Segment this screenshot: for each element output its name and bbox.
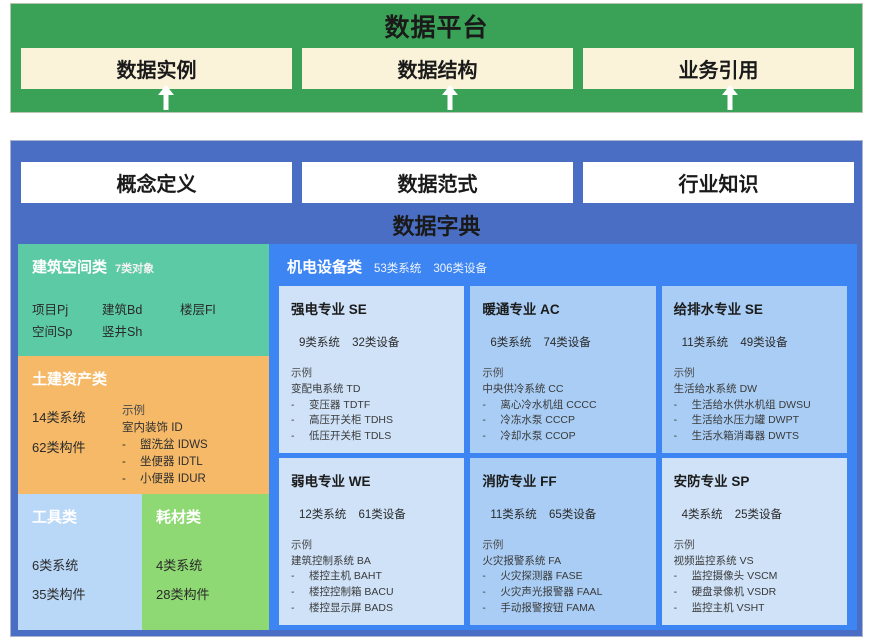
list-item: -楼控显示屏 BADS	[291, 601, 452, 617]
discipline-example: 示例 变配电系统 TD -变压器 TDTF -高压开关柜 TDHS -低压开关柜…	[291, 366, 452, 445]
civil-assets-body: 14类系统 62类构件 示例 室内装饰 ID -盥洗盆 IDWS -坐便器 ID…	[32, 403, 255, 487]
discipline-card-security[interactable]: 安防专业 SP 4类系统 25类设备 示例 视频监控系统 VS -监控摄像头 V…	[662, 458, 847, 625]
space-item-shaft: 竖井Sh	[102, 321, 180, 340]
platform-card-business-reference[interactable]: 业务引用	[583, 48, 854, 89]
category-consumables-title: 耗材类	[156, 506, 201, 527]
category-civil-assets[interactable]: 土建资产类 14类系统 62类构件 示例 室内装饰 ID -盥洗盆 IDWS	[18, 356, 269, 494]
list-item: -坐便器 IDTL	[122, 454, 208, 471]
list-item: -火灾探测器 FASE	[482, 569, 643, 585]
space-item-floor: 楼层Fl	[180, 299, 255, 318]
discipline-example-item-2: 冷却水泵 CCOP	[500, 429, 575, 445]
discipline-grid: 强电专业 SE 9类系统 32类设备 示例 变配电系统 TD -变压器 TDTF…	[279, 286, 847, 623]
bullet-dash-icon: -	[122, 454, 130, 471]
list-item: -冷却水泵 CCOP	[482, 429, 643, 445]
category-consumables[interactable]: 耗材类 4类系统 28类构件	[142, 494, 269, 630]
discipline-system-count: 11类系统	[682, 337, 728, 349]
arrow-up-icon-2	[440, 85, 460, 110]
civil-example-item-0: 盥洗盆 IDWS	[140, 437, 208, 454]
list-item: -监控主机 VSHT	[674, 601, 835, 617]
consumables-component-count: 28类构件	[156, 580, 255, 609]
discipline-card-strong-electric[interactable]: 强电专业 SE 9类系统 32类设备 示例 变配电系统 TD -变压器 TDTF…	[279, 286, 464, 453]
platform-card-row: 数据实例 数据结构 业务引用	[21, 48, 854, 89]
discipline-example-system: 视频监控系统 VS	[674, 554, 835, 570]
discipline-example-list: -生活给水供水机组 DWSU -生活给水压力罐 DWPT -生活水箱消毒器 DW…	[674, 398, 835, 445]
bullet-dash-icon: -	[482, 601, 489, 617]
discipline-example-item-2: 低压开关柜 TDLS	[309, 429, 391, 445]
discipline-counts: 12类系统 61类设备	[291, 506, 452, 522]
discipline-example-item-0: 离心冷水机组 CCCC	[500, 398, 596, 414]
discipline-title: 强电专业 SE	[291, 298, 452, 318]
discipline-example-system: 变配电系统 TD	[291, 382, 452, 398]
tools-counts: 6类系统 35类构件	[32, 551, 128, 609]
list-item: -生活给水压力罐 DWPT	[674, 413, 835, 429]
dictionary-card-industry-knowledge[interactable]: 行业知识	[583, 162, 854, 203]
list-item: -生活给水供水机组 DWSU	[674, 398, 835, 414]
category-civil-assets-title: 土建资产类	[32, 368, 107, 389]
category-tools-header: 工具类	[32, 506, 128, 527]
bullet-dash-icon: -	[674, 429, 681, 445]
left-category-column: 建筑空间类 7类对象 项目Pj 建筑Bd 楼层Fl 空间Sp 竖井Sh	[18, 244, 269, 630]
bullet-dash-icon: -	[674, 585, 681, 601]
discipline-example-list: -火灾探测器 FASE -火灾声光报警器 FAAL -手动报警按钮 FAMA	[482, 569, 643, 616]
discipline-title: 消防专业 FF	[482, 470, 643, 490]
civil-example-item-1: 坐便器 IDTL	[140, 454, 203, 471]
discipline-example: 示例 视频监控系统 VS -监控摄像头 VSCM -硬盘录像机 VSDR -监控…	[674, 538, 835, 617]
mep-system-count: 53类系统	[374, 260, 421, 276]
space-item-project: 项目Pj	[32, 299, 102, 318]
discipline-example-list: -楼控主机 BAHT -楼控控制箱 BACU -楼控显示屏 BADS	[291, 569, 452, 616]
list-item: -小便器 IDUR	[122, 471, 208, 488]
list-item: -监控摄像头 VSCM	[674, 569, 835, 585]
bullet-dash-icon: -	[291, 601, 298, 617]
discipline-example-item-2: 生活水箱消毒器 DWTS	[692, 429, 799, 445]
discipline-system-count: 4类系统	[682, 509, 723, 521]
discipline-card-weak-electric[interactable]: 弱电专业 WE 12类系统 61类设备 示例 建筑控制系统 BA -楼控主机 B…	[279, 458, 464, 625]
list-item: -生活水箱消毒器 DWTS	[674, 429, 835, 445]
tools-component-count: 35类构件	[32, 580, 128, 609]
discipline-title: 安防专业 SP	[674, 470, 835, 490]
discipline-example-item-1: 楼控控制箱 BACU	[309, 585, 394, 601]
discipline-example-item-2: 监控主机 VSHT	[692, 601, 765, 617]
discipline-example: 示例 生活给水系统 DW -生活给水供水机组 DWSU -生活给水压力罐 DWP…	[674, 366, 835, 445]
discipline-example-system: 生活给水系统 DW	[674, 382, 835, 398]
discipline-example-label: 示例	[482, 366, 643, 382]
mep-title: 机电设备类	[287, 256, 362, 277]
bullet-dash-icon: -	[482, 398, 489, 414]
discipline-example-item-0: 监控摄像头 VSCM	[692, 569, 778, 585]
discipline-example-label: 示例	[291, 538, 452, 554]
bullet-dash-icon: -	[674, 398, 681, 414]
civil-example-system: 室内装饰 ID	[122, 420, 208, 437]
dictionary-card-row: 概念定义 数据范式 行业知识	[21, 162, 854, 203]
dictionary-title: 数据字典	[11, 209, 862, 241]
list-item: -手动报警按钮 FAMA	[482, 601, 643, 617]
discipline-title: 暖通专业 AC	[482, 298, 643, 318]
discipline-example-list: -离心冷水机组 CCCC -冷冻水泵 CCCP -冷却水泵 CCOP	[482, 398, 643, 445]
mep-header: 机电设备类 53类系统 306类设备	[287, 256, 847, 277]
list-item: -楼控控制箱 BACU	[291, 585, 452, 601]
discipline-card-hvac[interactable]: 暖通专业 AC 6类系统 74类设备 示例 中央供冷系统 CC -离心冷水机组 …	[470, 286, 655, 453]
discipline-example-list: -变压器 TDTF -高压开关柜 TDHS -低压开关柜 TDLS	[291, 398, 452, 445]
list-item: -变压器 TDTF	[291, 398, 452, 414]
discipline-system-count: 9类系统	[299, 337, 340, 349]
civil-system-count: 14类系统	[32, 403, 122, 433]
discipline-example-item-1: 火灾声光报警器 FAAL	[500, 585, 602, 601]
discipline-example-list: -监控摄像头 VSCM -硬盘录像机 VSDR -监控主机 VSHT	[674, 569, 835, 616]
discipline-device-count: 74类设备	[543, 337, 590, 349]
discipline-example-label: 示例	[674, 538, 835, 554]
discipline-counts: 11类系统 49类设备	[674, 334, 835, 350]
discipline-example: 示例 中央供冷系统 CC -离心冷水机组 CCCC -冷冻水泵 CCCP -冷却…	[482, 366, 643, 445]
discipline-example-item-0: 变压器 TDTF	[309, 398, 370, 414]
lower-category-row: 工具类 6类系统 35类构件 耗材类 4类系统 28类构件	[18, 494, 269, 630]
category-tools[interactable]: 工具类 6类系统 35类构件	[18, 494, 142, 630]
discipline-device-count: 65类设备	[549, 509, 596, 521]
discipline-example-item-1: 高压开关柜 TDHS	[309, 413, 393, 429]
discipline-system-count: 6类系统	[490, 337, 531, 349]
discipline-title: 弱电专业 WE	[291, 470, 452, 490]
civil-assets-example: 示例 室内装饰 ID -盥洗盆 IDWS -坐便器 IDTL -小便器 IDUR	[122, 403, 208, 487]
discipline-example-label: 示例	[291, 366, 452, 382]
discipline-example-item-0: 楼控主机 BAHT	[309, 569, 382, 585]
list-item: -火灾声光报警器 FAAL	[482, 585, 643, 601]
discipline-counts: 6类系统 74类设备	[482, 334, 643, 350]
bullet-dash-icon: -	[482, 585, 489, 601]
space-item-building: 建筑Bd	[102, 299, 180, 318]
category-building-space-subtitle: 7类对象	[115, 260, 154, 276]
discipline-example-item-0: 生活给水供水机组 DWSU	[692, 398, 811, 414]
civil-example-label: 示例	[122, 403, 208, 420]
data-dictionary-band: 概念定义 数据范式 行业知识 数据字典 建筑空间类 7类对象 项目Pj 建筑Bd…	[10, 140, 863, 637]
discipline-device-count: 32类设备	[352, 337, 399, 349]
discipline-example-item-2: 手动报警按钮 FAMA	[500, 601, 595, 617]
discipline-example-item-1: 生活给水压力罐 DWPT	[692, 413, 799, 429]
category-mep-equipment: 机电设备类 53类系统 306类设备 强电专业 SE 9类系统 32类设备 示例	[269, 244, 857, 630]
discipline-example-item-0: 火灾探测器 FASE	[500, 569, 582, 585]
list-item: -冷冻水泵 CCCP	[482, 413, 643, 429]
discipline-title: 给排水专业 SE	[674, 298, 835, 318]
arrow-up-icon-3	[720, 85, 740, 110]
discipline-example: 示例 建筑控制系统 BA -楼控主机 BAHT -楼控控制箱 BACU -楼控显…	[291, 538, 452, 617]
civil-component-count: 62类构件	[32, 433, 122, 463]
discipline-example-item-1: 硬盘录像机 VSDR	[692, 585, 777, 601]
bullet-dash-icon: -	[291, 398, 298, 414]
bullet-dash-icon: -	[674, 569, 681, 585]
discipline-example: 示例 火灾报警系统 FA -火灾探测器 FASE -火灾声光报警器 FAAL -…	[482, 538, 643, 617]
discipline-example-system: 建筑控制系统 BA	[291, 554, 452, 570]
category-building-space[interactable]: 建筑空间类 7类对象 项目Pj 建筑Bd 楼层Fl 空间Sp 竖井Sh	[18, 244, 269, 356]
discipline-example-label: 示例	[482, 538, 643, 554]
discipline-example-system: 中央供冷系统 CC	[482, 382, 643, 398]
platform-band: 数据平台 数据实例 数据结构 业务引用	[10, 3, 863, 113]
discipline-card-fire-fighting[interactable]: 消防专业 FF 11类系统 65类设备 示例 火灾报警系统 FA -火灾探测器 …	[470, 458, 655, 625]
list-item: -硬盘录像机 VSDR	[674, 585, 835, 601]
space-item-space: 空间Sp	[32, 321, 102, 340]
list-item: -离心冷水机组 CCCC	[482, 398, 643, 414]
bullet-dash-icon: -	[122, 437, 130, 454]
platform-card-data-structure[interactable]: 数据结构	[302, 48, 573, 89]
building-space-items: 项目Pj 建筑Bd 楼层Fl 空间Sp 竖井Sh	[32, 299, 255, 340]
bullet-dash-icon: -	[482, 429, 489, 445]
dictionary-card-data-paradigm[interactable]: 数据范式	[302, 162, 573, 203]
discipline-card-plumbing[interactable]: 给排水专业 SE 11类系统 49类设备 示例 生活给水系统 DW -生活给水供…	[662, 286, 847, 453]
mep-device-count: 306类设备	[433, 260, 487, 276]
discipline-system-count: 12类系统	[299, 509, 346, 521]
bullet-dash-icon: -	[291, 585, 298, 601]
arrow-up-icon-1	[156, 85, 176, 110]
category-civil-assets-header: 土建资产类	[32, 368, 255, 389]
civil-example-list: -盥洗盆 IDWS -坐便器 IDTL -小便器 IDUR	[122, 437, 208, 487]
discipline-example-item-1: 冷冻水泵 CCCP	[500, 413, 575, 429]
category-consumables-header: 耗材类	[156, 506, 255, 527]
bullet-dash-icon: -	[291, 569, 298, 585]
list-item: -楼控主机 BAHT	[291, 569, 452, 585]
discipline-system-count: 11类系统	[490, 509, 536, 521]
discipline-counts: 11类系统 65类设备	[482, 506, 643, 522]
bullet-dash-icon: -	[674, 601, 681, 617]
platform-title: 数据平台	[11, 8, 862, 44]
discipline-counts: 9类系统 32类设备	[291, 334, 452, 350]
discipline-counts: 4类系统 25类设备	[674, 506, 835, 522]
discipline-device-count: 61类设备	[359, 509, 406, 521]
bullet-dash-icon: -	[482, 413, 489, 429]
bullet-dash-icon: -	[291, 413, 298, 429]
dictionary-card-concept-definition[interactable]: 概念定义	[21, 162, 292, 203]
discipline-device-count: 49类设备	[740, 337, 787, 349]
discipline-example-item-2: 楼控显示屏 BADS	[309, 601, 393, 617]
tools-system-count: 6类系统	[32, 551, 128, 580]
dictionary-body: 建筑空间类 7类对象 项目Pj 建筑Bd 楼层Fl 空间Sp 竖井Sh	[18, 244, 857, 630]
discipline-example-system: 火灾报警系统 FA	[482, 554, 643, 570]
discipline-example-label: 示例	[674, 366, 835, 382]
list-item: -低压开关柜 TDLS	[291, 429, 452, 445]
bullet-dash-icon: -	[291, 429, 298, 445]
space-item-blank	[180, 321, 255, 340]
civil-assets-counts: 14类系统 62类构件	[32, 403, 122, 487]
civil-example-item-2: 小便器 IDUR	[140, 471, 206, 488]
consumables-system-count: 4类系统	[156, 551, 255, 580]
list-item: -高压开关柜 TDHS	[291, 413, 452, 429]
list-item: -盥洗盆 IDWS	[122, 437, 208, 454]
bullet-dash-icon: -	[482, 569, 489, 585]
discipline-device-count: 25类设备	[735, 509, 782, 521]
diagram-canvas: 数据平台 数据实例 数据结构 业务引用 概念定义 数据范式 行业知识 数据字典	[0, 0, 872, 641]
category-tools-title: 工具类	[32, 506, 77, 527]
category-building-space-title: 建筑空间类	[32, 256, 107, 277]
bullet-dash-icon: -	[122, 471, 130, 488]
platform-card-data-instance[interactable]: 数据实例	[21, 48, 292, 89]
bullet-dash-icon: -	[674, 413, 681, 429]
category-building-space-header: 建筑空间类 7类对象	[32, 256, 255, 277]
consumables-counts: 4类系统 28类构件	[156, 551, 255, 609]
